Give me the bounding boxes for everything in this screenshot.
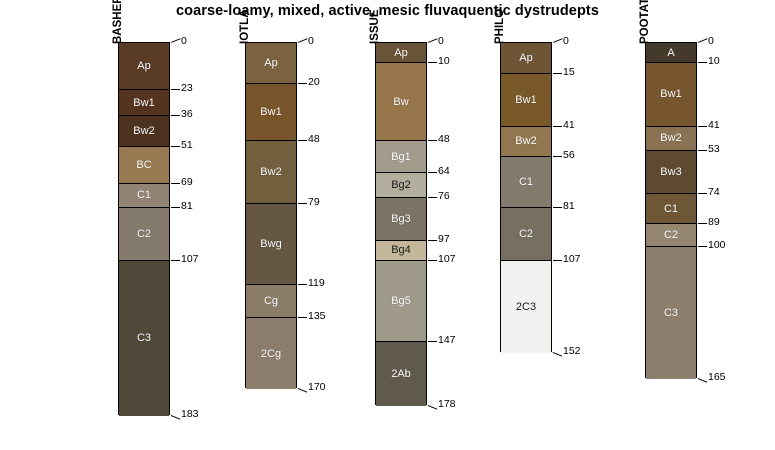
horizon-segment: C1 xyxy=(119,184,169,208)
horizon-label: Bw2 xyxy=(246,166,296,178)
depth-tick-line xyxy=(428,197,437,198)
horizon-label: Bg3 xyxy=(376,213,426,225)
horizon-label: C1 xyxy=(646,203,696,215)
horizon-segment: Bg3 xyxy=(376,198,426,241)
depth-tick-label: 20 xyxy=(308,76,320,88)
depth-tick-line xyxy=(298,140,307,141)
horizon-segment: C2 xyxy=(501,208,551,261)
horizon-label: Bw1 xyxy=(119,97,169,109)
depth-tick-label: 100 xyxy=(708,239,726,251)
depth-tick-label: 23 xyxy=(181,82,193,94)
depth-tick-label: 15 xyxy=(563,66,575,78)
depth-tick-line xyxy=(553,126,562,127)
horizon-label: Bw2 xyxy=(501,135,551,147)
profile-name-label: IOTLA xyxy=(239,10,251,45)
horizon-label: 2Ab xyxy=(376,368,426,380)
depth-tick-line xyxy=(553,352,563,357)
depth-tick-line xyxy=(553,156,562,157)
depth-tick-line xyxy=(298,388,308,393)
depth-tick-label: 51 xyxy=(181,139,193,151)
depth-tick-label: 0 xyxy=(563,35,569,47)
depth-tick-label: 0 xyxy=(181,35,187,47)
horizon-label: C2 xyxy=(119,228,169,240)
horizon-label: Ap xyxy=(119,60,169,72)
horizon-label: Bw2 xyxy=(119,125,169,137)
horizon-label: 2Cg xyxy=(246,348,296,360)
horizon-segment: Bw3 xyxy=(646,151,696,194)
depth-tick-label: 36 xyxy=(181,108,193,120)
depth-tick-line xyxy=(298,38,308,43)
depth-tick-label: 152 xyxy=(563,345,581,357)
profile-name-label: PHILO xyxy=(494,9,506,44)
horizon-segment: 2Ab xyxy=(376,342,426,405)
horizon-label: Ap xyxy=(376,47,426,59)
horizon-label: C1 xyxy=(501,176,551,188)
soil-profile-chart: coarse-loamy, mixed, active, mesic fluva… xyxy=(0,0,775,450)
horizon-segment: Bg1 xyxy=(376,141,426,174)
depth-tick-line xyxy=(171,183,180,184)
horizon-segment: C1 xyxy=(501,157,551,208)
depth-tick-label: 64 xyxy=(438,165,450,177)
depth-tick-line xyxy=(171,38,181,43)
depth-tick-label: 79 xyxy=(308,196,320,208)
depth-tick-line xyxy=(698,38,708,43)
profile-bar: ApBw1Bw2BwgCg2Cg xyxy=(245,42,297,388)
horizon-label: C3 xyxy=(119,332,169,344)
horizon-label: C1 xyxy=(119,189,169,201)
horizon-segment: Ap xyxy=(376,43,426,63)
depth-tick-line xyxy=(428,140,437,141)
depth-tick-label: 74 xyxy=(708,186,720,198)
depth-tick-line xyxy=(428,341,437,342)
depth-tick-line xyxy=(428,172,437,173)
depth-tick-label: 48 xyxy=(438,133,450,145)
depth-tick-line xyxy=(171,89,180,90)
horizon-label: BC xyxy=(119,159,169,171)
depth-tick-line xyxy=(698,246,707,247)
horizon-segment: A xyxy=(646,43,696,63)
horizon-segment: Bg5 xyxy=(376,261,426,342)
horizon-segment: 2C3 xyxy=(501,261,551,353)
depth-tick-label: 170 xyxy=(308,381,326,393)
horizon-segment: C2 xyxy=(119,208,169,261)
horizon-label: C3 xyxy=(646,307,696,319)
depth-tick-line xyxy=(428,38,438,43)
depth-tick-line xyxy=(428,405,438,410)
horizon-segment: Bw2 xyxy=(119,116,169,147)
depth-tick-line xyxy=(298,83,307,84)
depth-tick-line xyxy=(553,260,562,261)
horizon-segment: Ap xyxy=(246,43,296,84)
depth-tick-label: 107 xyxy=(563,253,581,265)
horizon-label: Bg5 xyxy=(376,295,426,307)
horizon-segment: 2Cg xyxy=(246,318,296,389)
horizon-segment: Bwg xyxy=(246,204,296,285)
depth-tick-line xyxy=(553,38,563,43)
profile-name-label: BASHER xyxy=(112,0,124,44)
depth-tick-line xyxy=(698,150,707,151)
horizon-segment: Bg2 xyxy=(376,173,426,197)
depth-tick-label: 10 xyxy=(438,55,450,67)
depth-tick-line xyxy=(698,223,707,224)
depth-tick-label: 56 xyxy=(563,149,575,161)
depth-tick-label: 89 xyxy=(708,216,720,228)
horizon-segment: C3 xyxy=(119,261,169,416)
horizon-label: Bg4 xyxy=(376,244,426,256)
horizon-label: C2 xyxy=(501,228,551,240)
profile-name-label: ISSUE xyxy=(369,9,381,44)
depth-tick-label: 107 xyxy=(438,253,456,265)
profile-bar: ApBw1Bw2BCC1C2C3 xyxy=(118,42,170,415)
horizon-label: Bw1 xyxy=(646,88,696,100)
horizon-label: A xyxy=(646,47,696,59)
profile-name-label: POOTATUCK xyxy=(639,0,651,44)
depth-tick-line xyxy=(298,284,307,285)
depth-tick-label: 165 xyxy=(708,371,726,383)
depth-tick-label: 0 xyxy=(438,35,444,47)
depth-tick-line xyxy=(171,146,180,147)
depth-tick-line xyxy=(698,126,707,127)
depth-tick-line xyxy=(698,62,707,63)
depth-tick-label: 97 xyxy=(438,233,450,245)
horizon-segment: Ap xyxy=(119,43,169,90)
depth-tick-line xyxy=(171,415,181,420)
depth-tick-line xyxy=(698,193,707,194)
horizon-segment: Bg4 xyxy=(376,241,426,261)
horizon-label: Bw xyxy=(376,96,426,108)
depth-tick-label: 178 xyxy=(438,398,456,410)
depth-tick-label: 69 xyxy=(181,176,193,188)
horizon-segment: Cg xyxy=(246,285,296,318)
depth-tick-line xyxy=(171,260,180,261)
horizon-label: 2C3 xyxy=(501,301,551,313)
horizon-segment: Bw1 xyxy=(119,90,169,116)
horizon-label: Bwg xyxy=(246,238,296,250)
horizon-segment: Bw1 xyxy=(246,84,296,141)
depth-tick-label: 183 xyxy=(181,408,199,420)
depth-tick-line xyxy=(698,378,708,383)
horizon-segment: Bw1 xyxy=(646,63,696,126)
horizon-label: Bw1 xyxy=(246,106,296,118)
depth-tick-label: 119 xyxy=(308,277,325,289)
horizon-segment: Bw2 xyxy=(646,127,696,151)
depth-tick-label: 0 xyxy=(308,35,314,47)
profile-bar: ABw1Bw2Bw3C1C2C3 xyxy=(645,42,697,378)
horizon-label: Bw3 xyxy=(646,166,696,178)
horizon-label: Bw2 xyxy=(646,132,696,144)
depth-tick-label: 41 xyxy=(708,119,720,131)
profile-bar: ApBwBg1Bg2Bg3Bg4Bg52Ab xyxy=(375,42,427,405)
depth-tick-line xyxy=(298,203,307,204)
horizon-segment: Bw2 xyxy=(246,141,296,204)
depth-tick-label: 76 xyxy=(438,190,450,202)
depth-tick-label: 81 xyxy=(181,200,193,212)
depth-tick-label: 107 xyxy=(181,253,199,265)
depth-tick-line xyxy=(553,207,562,208)
horizon-label: Cg xyxy=(246,295,296,307)
horizon-segment: Ap xyxy=(501,43,551,74)
horizon-segment: BC xyxy=(119,147,169,184)
horizon-label: Ap xyxy=(501,52,551,64)
horizon-label: Bg1 xyxy=(376,151,426,163)
depth-tick-label: 135 xyxy=(308,310,326,322)
horizon-segment: Bw1 xyxy=(501,74,551,127)
depth-tick-line xyxy=(428,240,437,241)
horizon-label: Bw1 xyxy=(501,94,551,106)
horizon-segment: Bw2 xyxy=(501,127,551,158)
depth-tick-label: 0 xyxy=(708,35,714,47)
profile-bar: ApBw1Bw2C1C22C3 xyxy=(500,42,552,352)
depth-tick-line xyxy=(171,207,180,208)
horizon-segment: C1 xyxy=(646,194,696,225)
horizon-segment: C3 xyxy=(646,247,696,379)
horizon-label: Ap xyxy=(246,57,296,69)
depth-tick-label: 41 xyxy=(563,119,575,131)
depth-tick-label: 147 xyxy=(438,334,456,346)
depth-tick-label: 81 xyxy=(563,200,575,212)
horizon-segment: Bw xyxy=(376,63,426,140)
horizon-label: C2 xyxy=(646,229,696,241)
depth-tick-line xyxy=(428,260,437,261)
depth-tick-label: 10 xyxy=(708,55,720,67)
depth-tick-line xyxy=(428,62,437,63)
horizon-label: Bg2 xyxy=(376,179,426,191)
depth-tick-line xyxy=(553,73,562,74)
depth-tick-label: 53 xyxy=(708,143,720,155)
depth-tick-line xyxy=(171,115,180,116)
horizon-segment: C2 xyxy=(646,224,696,246)
depth-tick-label: 48 xyxy=(308,133,320,145)
depth-tick-line xyxy=(298,317,307,318)
